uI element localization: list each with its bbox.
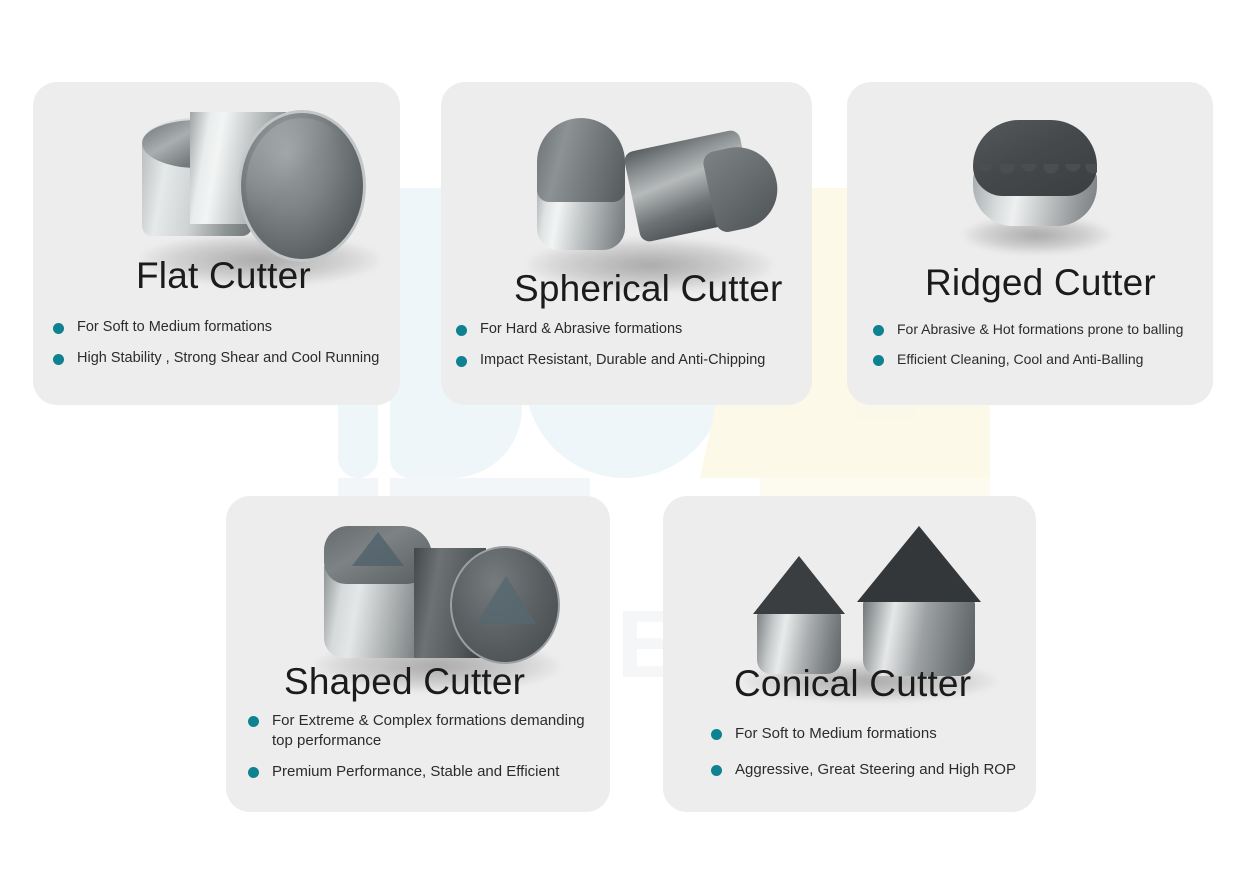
cutter-left-insert-dome <box>537 118 625 202</box>
card-title-shaped: Shaped Cutter <box>284 661 525 703</box>
cutter-card-spherical[interactable]: Spherical Cutter For Hard & Abrasive for… <box>441 82 812 405</box>
list-item: Premium Performance, Stable and Efficien… <box>248 762 598 782</box>
feature-text: Premium Performance, Stable and Efficien… <box>272 763 559 780</box>
cutter-card-ridged[interactable]: Ridged Cutter For Abrasive & Hot formati… <box>847 82 1213 405</box>
feature-text: Aggressive, Great Steering and High ROP <box>735 761 1016 778</box>
card-title-conical: Conical Cutter <box>734 663 971 705</box>
list-item: Impact Resistant, Durable and Anti-Chipp… <box>456 351 806 371</box>
cutter-ridged-interface <box>973 164 1097 180</box>
feature-list-flat: For Soft to Medium formations High Stabi… <box>53 318 393 379</box>
bullet-dot-icon <box>53 323 64 334</box>
bullet-dot-icon <box>248 767 259 778</box>
feature-text: High Stability , Strong Shear and Cool R… <box>77 350 379 366</box>
cutter-large-cone <box>857 526 981 602</box>
bullet-dot-icon <box>711 765 722 776</box>
bullet-dot-icon <box>248 716 259 727</box>
list-item: For Soft to Medium formations <box>53 318 393 338</box>
card-title-flat: Flat Cutter <box>136 255 311 297</box>
bullet-dot-icon <box>456 356 467 367</box>
ridged-cutter-photo <box>955 112 1115 252</box>
list-item: For Soft to Medium formations <box>711 724 1031 744</box>
feature-text: Impact Resistant, Durable and Anti-Chipp… <box>480 352 765 368</box>
cutter-front-triangle-facet <box>476 576 536 624</box>
list-item: Efficient Cleaning, Cool and Anti-Ballin… <box>873 350 1208 369</box>
list-item: For Extreme & Complex formations demandi… <box>248 711 598 752</box>
bullet-dot-icon <box>53 354 64 365</box>
feature-list-shaped: For Extreme & Complex formations demandi… <box>248 711 598 792</box>
spherical-cutter-photo <box>513 102 775 288</box>
bullet-dot-icon <box>456 325 467 336</box>
list-item: High Stability , Strong Shear and Cool R… <box>53 349 393 369</box>
feature-text: For Soft to Medium formations <box>77 319 272 335</box>
cutter-highlight <box>246 118 358 254</box>
feature-list-spherical: For Hard & Abrasive formations Impact Re… <box>456 320 806 381</box>
cutter-card-flat[interactable]: Flat Cutter For Soft to Medium formation… <box>33 82 400 405</box>
feature-text: For Abrasive & Hot formations prone to b… <box>897 321 1183 337</box>
card-title-spherical: Spherical Cutter <box>514 268 783 310</box>
list-item: Aggressive, Great Steering and High ROP <box>711 760 1031 780</box>
bullet-dot-icon <box>873 325 884 336</box>
feature-list-conical: For Soft to Medium formations Aggressive… <box>711 724 1031 797</box>
feature-text: For Soft to Medium formations <box>735 725 937 742</box>
feature-list-ridged: For Abrasive & Hot formations prone to b… <box>873 320 1208 380</box>
cutter-card-shaped[interactable]: Shaped Cutter For Extreme & Complex form… <box>226 496 610 812</box>
feature-text: For Extreme & Complex formations demandi… <box>272 712 585 749</box>
list-item: For Hard & Abrasive formations <box>456 320 806 340</box>
cutter-diamond-cap <box>973 120 1097 196</box>
bullet-dot-icon <box>711 729 722 740</box>
cutter-back-triangle-facet <box>352 532 404 566</box>
feature-text: Efficient Cleaning, Cool and Anti-Ballin… <box>897 351 1143 367</box>
feature-text: For Hard & Abrasive formations <box>480 321 682 337</box>
bullet-dot-icon <box>873 355 884 366</box>
card-title-ridged: Ridged Cutter <box>925 262 1156 304</box>
cutter-card-conical[interactable]: Conical Cutter For Soft to Medium format… <box>663 496 1036 812</box>
list-item: For Abrasive & Hot formations prone to b… <box>873 320 1208 339</box>
cutter-small-cone <box>753 556 845 614</box>
